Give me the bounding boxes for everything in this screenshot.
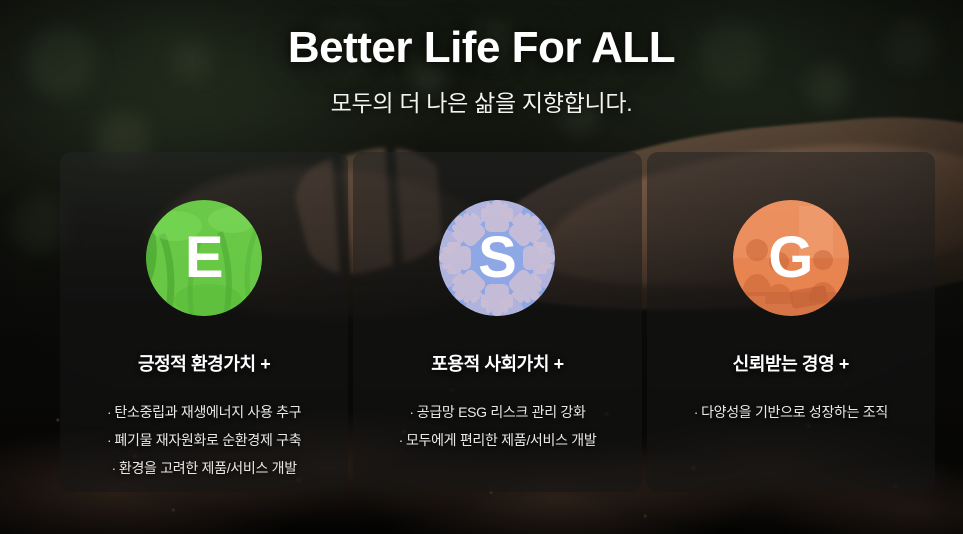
esg-card-title: 신뢰받는 경영 +: [733, 350, 849, 376]
list-item-label: 탄소중립과 재생에너지 사용 추구: [114, 404, 301, 420]
esg-card-title: 긍정적 환경가치 +: [138, 350, 270, 376]
list-item-label: 환경을 고려한 제품/서비스 개발: [119, 460, 297, 476]
esg-card-social[interactable]: S 포용적 사회가치 + ·공급망 ESG 리스크 관리 강화 ·모두에게 편리…: [353, 152, 641, 492]
esg-card-environment[interactable]: E 긍정적 환경가치 + ·탄소중립과 재생에너지 사용 추구 ·폐기물 재자원…: [60, 152, 348, 492]
bullet-marker-icon: ·: [112, 460, 116, 476]
bullet-marker-icon: ·: [409, 404, 413, 420]
bullet-marker-icon: ·: [107, 404, 111, 420]
list-item-label: 폐기물 재자원화로 순환경제 구축: [114, 432, 301, 448]
list-item: ·공급망 ESG 리스크 관리 강화: [353, 398, 641, 426]
bullet-marker-icon: ·: [107, 432, 111, 448]
bullet-marker-icon: ·: [694, 404, 698, 420]
list-item-label: 공급망 ESG 리스크 관리 강화: [417, 404, 586, 420]
esg-card-governance[interactable]: G 신뢰받는 경영 + ·다양성을 기반으로 성장하는 조직: [647, 152, 935, 492]
esg-badge-letter: E: [185, 229, 224, 287]
list-item: ·폐기물 재자원화로 순환경제 구축: [60, 426, 348, 454]
esg-card-title: 포용적 사회가치 +: [431, 350, 563, 376]
list-item: ·탄소중립과 재생에너지 사용 추구: [60, 398, 348, 426]
esg-badge-social: S: [439, 200, 555, 316]
list-item: ·다양성을 기반으로 성장하는 조직: [647, 398, 935, 426]
esg-badge-letter: S: [478, 229, 517, 287]
esg-badge-letter: G: [768, 229, 813, 287]
page-title: Better Life For ALL: [0, 24, 963, 72]
esg-card-bullets: ·공급망 ESG 리스크 관리 강화 ·모두에게 편리한 제품/서비스 개발: [353, 398, 641, 454]
list-item: ·모두에게 편리한 제품/서비스 개발: [353, 426, 641, 454]
esg-card-bullets: ·다양성을 기반으로 성장하는 조직: [647, 398, 935, 426]
list-item-label: 모두에게 편리한 제품/서비스 개발: [406, 432, 596, 448]
list-item: ·환경을 고려한 제품/서비스 개발: [60, 454, 348, 482]
list-item-label: 다양성을 기반으로 성장하는 조직: [701, 404, 888, 420]
esg-card-bullets: ·탄소중립과 재생에너지 사용 추구 ·폐기물 재자원화로 순환경제 구축 ·환…: [60, 398, 348, 482]
bullet-marker-icon: ·: [399, 432, 403, 448]
page-subtitle: 모두의 더 나은 삶을 지향합니다.: [0, 84, 963, 118]
esg-card-list: E 긍정적 환경가치 + ·탄소중립과 재생에너지 사용 추구 ·폐기물 재자원…: [60, 152, 935, 492]
esg-badge-environment: E: [146, 200, 262, 316]
esg-badge-governance: G: [733, 200, 849, 316]
esg-hero-banner: Better Life For ALL 모두의 더 나은 삶을 지향합니다.: [0, 0, 963, 534]
hero-text-block: Better Life For ALL 모두의 더 나은 삶을 지향합니다.: [0, 24, 963, 118]
